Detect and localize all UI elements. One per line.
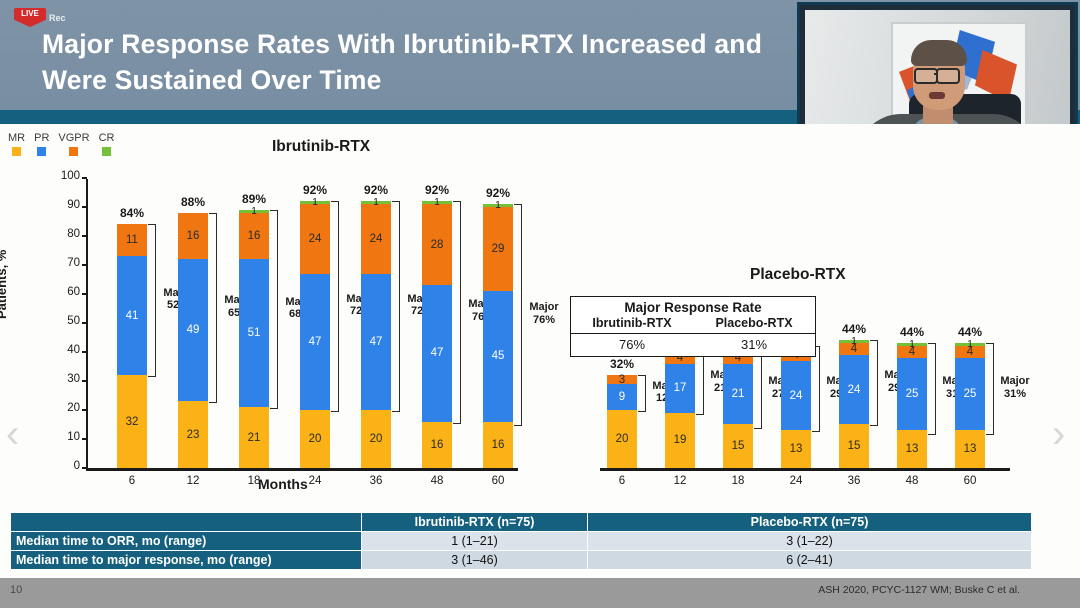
bar-total-label: 84% [104, 206, 160, 220]
cell-major-ibrutinib: 3 (1–46) [362, 551, 588, 570]
major-response-bracket [270, 210, 278, 409]
bar-total-label: 89% [226, 192, 282, 206]
x-tick-label: 60 [476, 475, 520, 487]
bar-total-label: 32% [594, 357, 650, 371]
row-label-orr: Median time to ORR, mo (range) [11, 532, 362, 551]
eyeglasses-right-lens [936, 68, 960, 84]
y-tick-label: 100 [50, 170, 80, 182]
bar-segment-pr: 24 [781, 361, 811, 431]
x-tick-label: 12 [171, 475, 215, 487]
bar-48-months[interactable]: 1647281 [422, 201, 452, 468]
bar-segment-pr: 25 [897, 358, 927, 431]
major-response-bracket [514, 204, 522, 426]
y-tick-label: 60 [50, 286, 80, 298]
major-response-bracket [453, 201, 461, 423]
y-axis-title: Patients, % [0, 250, 9, 319]
bar-segment-mr: 16 [422, 422, 452, 468]
bar-6-months[interactable]: 324111 [117, 224, 147, 468]
chevron-right-icon[interactable]: › [1052, 414, 1076, 454]
y-tick-label: 80 [50, 228, 80, 240]
cell-orr-ibrutinib: 1 (1–21) [362, 532, 588, 551]
y-tick [82, 409, 87, 411]
y-tick [82, 467, 87, 469]
x-tick-label: 6 [600, 475, 644, 487]
bar-segment-vgpr: 24 [361, 204, 391, 274]
bar-36-months[interactable]: 152441 [839, 340, 869, 468]
recording-indicator: LIVE Rec [14, 8, 66, 27]
bar-total-label: 92% [287, 183, 343, 197]
bar-segment-vgpr: 29 [483, 207, 513, 291]
y-tick [82, 351, 87, 353]
legend-label: VGPR [58, 132, 89, 144]
bar-segment-mr: 16 [483, 422, 513, 468]
bar-segment-pr: 47 [361, 274, 391, 410]
x-tick-label: 12 [658, 475, 702, 487]
bar-segment-mr: 23 [178, 401, 208, 468]
bar-segment-mr: 15 [723, 424, 753, 468]
bar-segment-pr: 21 [723, 364, 753, 425]
bar-total-label: 92% [470, 186, 526, 200]
bar-segment-pr: 9 [607, 384, 637, 410]
legend-item-pr: PR [34, 132, 49, 156]
bar-12-months[interactable]: 234916 [178, 213, 208, 468]
table-corner-cell [11, 513, 362, 532]
y-tick-label: 10 [50, 431, 80, 443]
x-axis-placebo [600, 468, 1010, 471]
bar-segment-cr: 1 [483, 204, 513, 207]
y-tick [82, 438, 87, 440]
mrr-value-ibrutinib: 76% [571, 334, 693, 356]
y-tick-label: 20 [50, 402, 80, 414]
legend-item-vgpr: VGPR [58, 132, 89, 156]
y-tick-label: 30 [50, 373, 80, 385]
bar-segment-pr: 45 [483, 291, 513, 422]
y-tick [82, 177, 87, 179]
chart-title-placebo: Placebo-RTX [750, 266, 846, 284]
x-tick-label: 6 [110, 475, 154, 487]
bar-segment-pr: 41 [117, 256, 147, 375]
x-tick-label: 60 [948, 475, 992, 487]
x-tick-label: 48 [415, 475, 459, 487]
bar-segment-cr: 1 [300, 201, 330, 204]
y-tick [82, 322, 87, 324]
table-header-row: Ibrutinib-RTX (n=75) Placebo-RTX (n=75) [11, 513, 1032, 532]
live-badge: LIVE [14, 8, 46, 27]
legend-swatch-pr [37, 147, 46, 156]
bar-segment-pr: 24 [839, 355, 869, 425]
table-header-placebo: Placebo-RTX (n=75) [588, 513, 1032, 532]
speaker-hair [911, 40, 967, 66]
bar-segment-mr: 19 [665, 413, 695, 468]
legend-label: PR [34, 132, 49, 144]
bar-segment-vgpr: 16 [239, 213, 269, 259]
bar-60-months[interactable]: 1645291 [483, 204, 513, 468]
table-row: Median time to major response, mo (range… [11, 551, 1032, 570]
table-header-ibrutinib: Ibrutinib-RTX (n=75) [362, 513, 588, 532]
bar-segment-cr: 1 [955, 343, 985, 346]
bar-segment-vgpr: 24 [300, 204, 330, 274]
bar-18-months[interactable]: 152141 [723, 349, 753, 468]
legend-item-cr: CR [99, 132, 115, 156]
bar-segment-pr: 51 [239, 259, 269, 407]
attribution: ASH 2020, PCYC-1127 WM; Buske C et al. [740, 584, 1020, 596]
major-response-rate-table: Major Response Rate Ibrutinib-RTX Placeb… [570, 296, 816, 357]
major-response-label: Major31% [993, 375, 1037, 400]
major-response-label: Major76% [522, 301, 566, 326]
y-tick [82, 235, 87, 237]
page-title: Major Response Rates With Ibrutinib-RTX … [42, 27, 772, 99]
legend-swatch-vgpr [69, 147, 78, 156]
y-tick [82, 206, 87, 208]
major-response-bracket [148, 224, 156, 377]
slide-number: 10 [10, 584, 22, 596]
major-response-bracket [209, 213, 217, 404]
y-tick [82, 264, 87, 266]
bar-segment-pr: 47 [422, 285, 452, 421]
bar-segment-cr: 1 [422, 201, 452, 204]
bar-total-label: 92% [348, 183, 404, 197]
legend-label: MR [8, 132, 25, 144]
eyeglasses-bridge [934, 73, 938, 75]
bar-24-months[interactable]: 132441 [781, 346, 811, 468]
bar-segment-cr: 1 [897, 343, 927, 346]
y-tick-label: 50 [50, 315, 80, 327]
y-tick [82, 293, 87, 295]
mrr-value-placebo: 31% [693, 334, 815, 356]
x-tick-label: 18 [716, 475, 760, 487]
bar-segment-vgpr: 28 [422, 204, 452, 285]
summary-table: Ibrutinib-RTX (n=75) Placebo-RTX (n=75) … [10, 512, 1032, 570]
speaker-mouth [929, 92, 945, 99]
bar-60-months[interactable]: 132541 [955, 343, 985, 468]
bar-segment-mr: 21 [239, 407, 269, 468]
bar-segment-vgpr: 16 [178, 213, 208, 259]
bar-6-months[interactable]: 2093 [607, 375, 637, 468]
y-axis [86, 179, 88, 469]
mrr-header-placebo: Placebo-RTX [693, 316, 815, 333]
table-row: Median time to ORR, mo (range) 1 (1–21) … [11, 532, 1032, 551]
bar-segment-mr: 13 [781, 430, 811, 468]
legend-swatch-cr [102, 147, 111, 156]
chart-legend: MRPRVGPRCR [8, 132, 114, 156]
bar-segment-pr: 17 [665, 364, 695, 413]
bar-segment-mr: 32 [117, 375, 147, 468]
bar-segment-mr: 13 [955, 430, 985, 468]
mrr-header-ibrutinib: Ibrutinib-RTX [571, 316, 693, 333]
bar-18-months[interactable]: 2151161 [239, 210, 269, 468]
bar-12-months[interactable]: 19174 [665, 352, 695, 468]
eyeglasses-left-lens [914, 68, 938, 84]
bar-48-months[interactable]: 132541 [897, 343, 927, 468]
bar-segment-pr: 47 [300, 274, 330, 410]
chevron-left-icon[interactable]: ‹ [6, 414, 30, 454]
slide-content: ‹ › MRPRVGPRCR Ibrutinib-RTX Placebo-RTX… [0, 124, 1080, 608]
chart-title-ibrutinib: Ibrutinib-RTX [272, 138, 370, 156]
cell-orr-placebo: 3 (1–22) [588, 532, 1032, 551]
cell-major-placebo: 6 (2–41) [588, 551, 1032, 570]
bar-total-label: 92% [409, 183, 465, 197]
rec-label: Rec [49, 13, 66, 23]
bar-total-label: 44% [942, 325, 998, 339]
bar-segment-vgpr: 3 [607, 375, 637, 384]
row-label-major: Median time to major response, mo (range… [11, 551, 362, 570]
y-tick-label: 90 [50, 199, 80, 211]
bar-segment-mr: 15 [839, 424, 869, 468]
x-tick-label: 36 [354, 475, 398, 487]
x-axis-ibrutinib [86, 468, 518, 471]
bar-segment-cr: 1 [239, 210, 269, 213]
major-response-bracket [392, 201, 400, 412]
bar-total-label: 88% [165, 195, 221, 209]
x-tick-label: 36 [832, 475, 876, 487]
bar-segment-cr: 1 [361, 201, 391, 204]
y-tick-label: 40 [50, 344, 80, 356]
bar-total-label: 44% [884, 325, 940, 339]
legend-label: CR [99, 132, 115, 144]
x-tick-label: 48 [890, 475, 934, 487]
bar-segment-cr: 1 [839, 340, 869, 343]
bar-24-months[interactable]: 2047241 [300, 201, 330, 468]
bar-segment-vgpr: 11 [117, 224, 147, 256]
major-response-bracket [331, 201, 339, 412]
legend-item-mr: MR [8, 132, 25, 156]
bar-segment-mr: 20 [300, 410, 330, 468]
bar-segment-mr: 20 [607, 410, 637, 468]
y-tick [82, 380, 87, 382]
bar-total-label: 44% [826, 322, 882, 336]
legend-swatch-mr [12, 147, 21, 156]
y-tick-label: 70 [50, 257, 80, 269]
x-tick-label: 24 [774, 475, 818, 487]
bar-segment-mr: 20 [361, 410, 391, 468]
bar-segment-pr: 49 [178, 259, 208, 401]
bar-segment-mr: 13 [897, 430, 927, 468]
x-axis-title-ibrutinib: Months [258, 476, 308, 492]
bar-36-months[interactable]: 2047241 [361, 201, 391, 468]
y-tick-label: 0 [50, 460, 80, 472]
bar-segment-pr: 25 [955, 358, 985, 431]
mrr-title: Major Response Rate [571, 297, 815, 316]
